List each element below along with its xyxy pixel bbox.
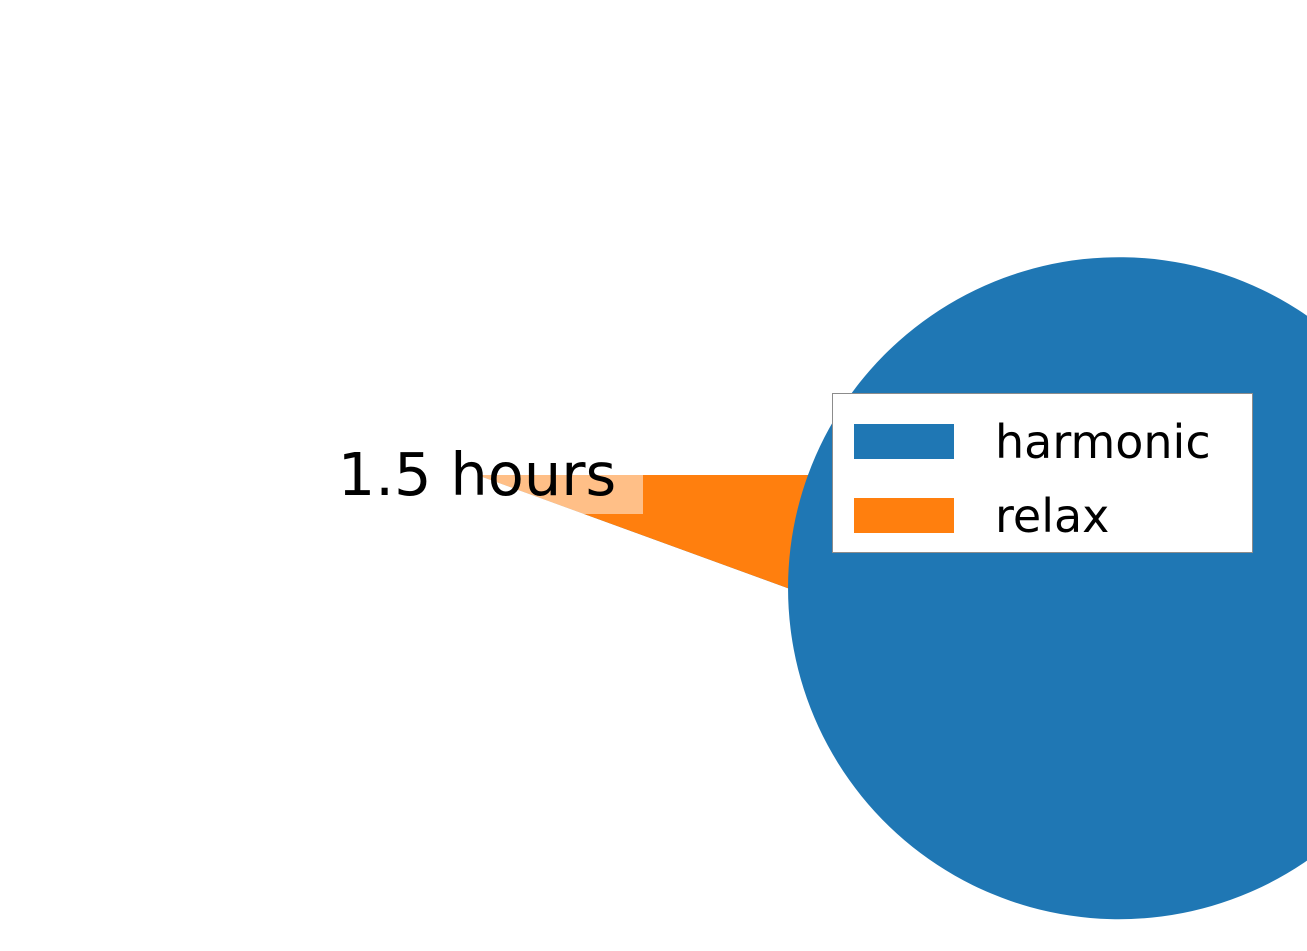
legend-swatch-harmonic	[854, 424, 954, 459]
pie-center-label-box: 1.5 hours	[311, 435, 643, 514]
legend-label-relax: relax	[995, 490, 1109, 542]
legend: harmonic relax	[832, 393, 1253, 553]
pie-center-label: 1.5 hours	[338, 445, 616, 504]
legend-item-harmonic[interactable]: harmonic	[833, 416, 1252, 468]
pie-slice-harmonic[interactable]	[477, 257, 1307, 919]
figure-canvas: 1.5 hours harmonic relax	[0, 0, 1307, 951]
legend-label-harmonic: harmonic	[995, 416, 1211, 468]
legend-item-relax[interactable]: relax	[833, 490, 1252, 542]
legend-swatch-relax	[854, 498, 954, 533]
